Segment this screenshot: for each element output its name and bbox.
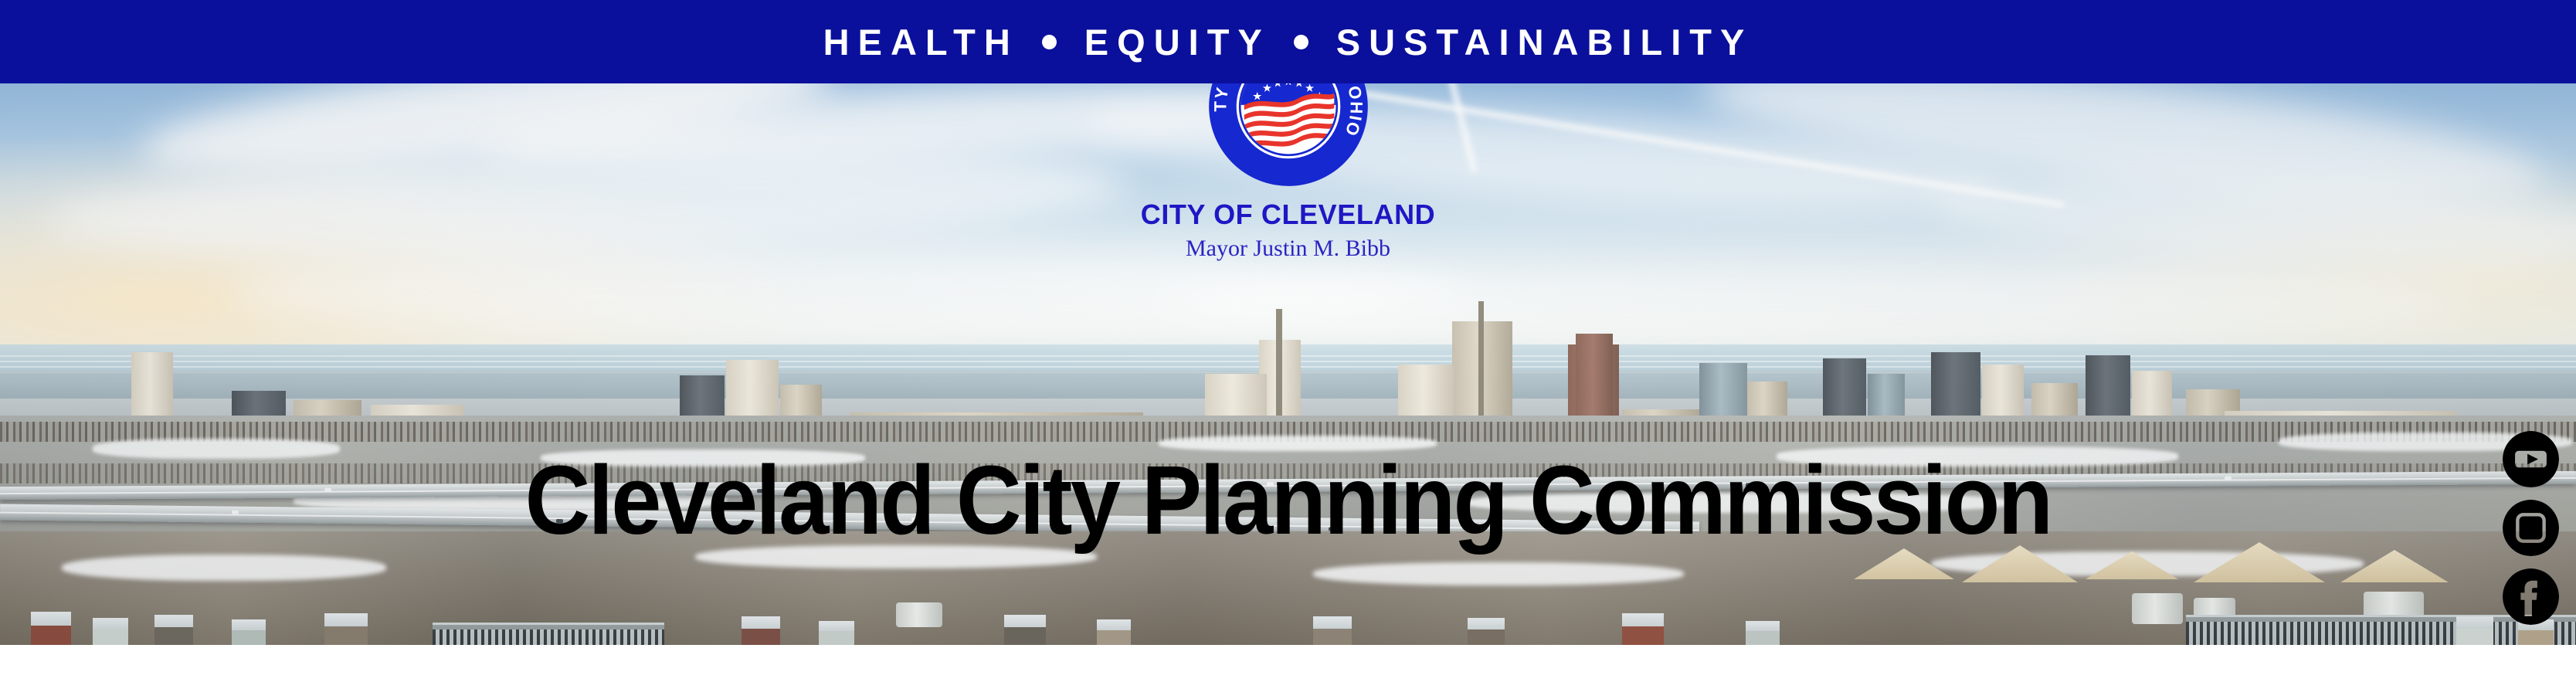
- brand-subtitle: Mayor Justin M. Bibb: [1186, 237, 1390, 260]
- bullet-dot-icon: [1294, 35, 1308, 49]
- youtube-icon[interactable]: [2503, 431, 2559, 487]
- warehouse-building: [433, 623, 664, 645]
- bottom-white-strip: [0, 645, 2576, 682]
- facebook-icon[interactable]: [2503, 568, 2559, 625]
- bullet-dot-icon: [1042, 35, 1057, 49]
- instagram-icon[interactable]: [2503, 500, 2559, 556]
- tagline-word-equity: EQUITY: [1084, 24, 1271, 60]
- tagline-text-group: HEALTH EQUITY SUSTAINABILITY: [823, 24, 1753, 60]
- tagline-word-health: HEALTH: [823, 24, 1019, 60]
- social-links-group: [2503, 431, 2559, 625]
- page-title: Cleveland City Planning Commission: [90, 452, 2486, 549]
- tagline-word-sustainability: SUSTAINABILITY: [1336, 24, 1753, 60]
- brand-name: CITY OF CLEVELAND: [1141, 201, 1436, 229]
- tagline-bar: HEALTH EQUITY SUSTAINABILITY: [0, 0, 2576, 83]
